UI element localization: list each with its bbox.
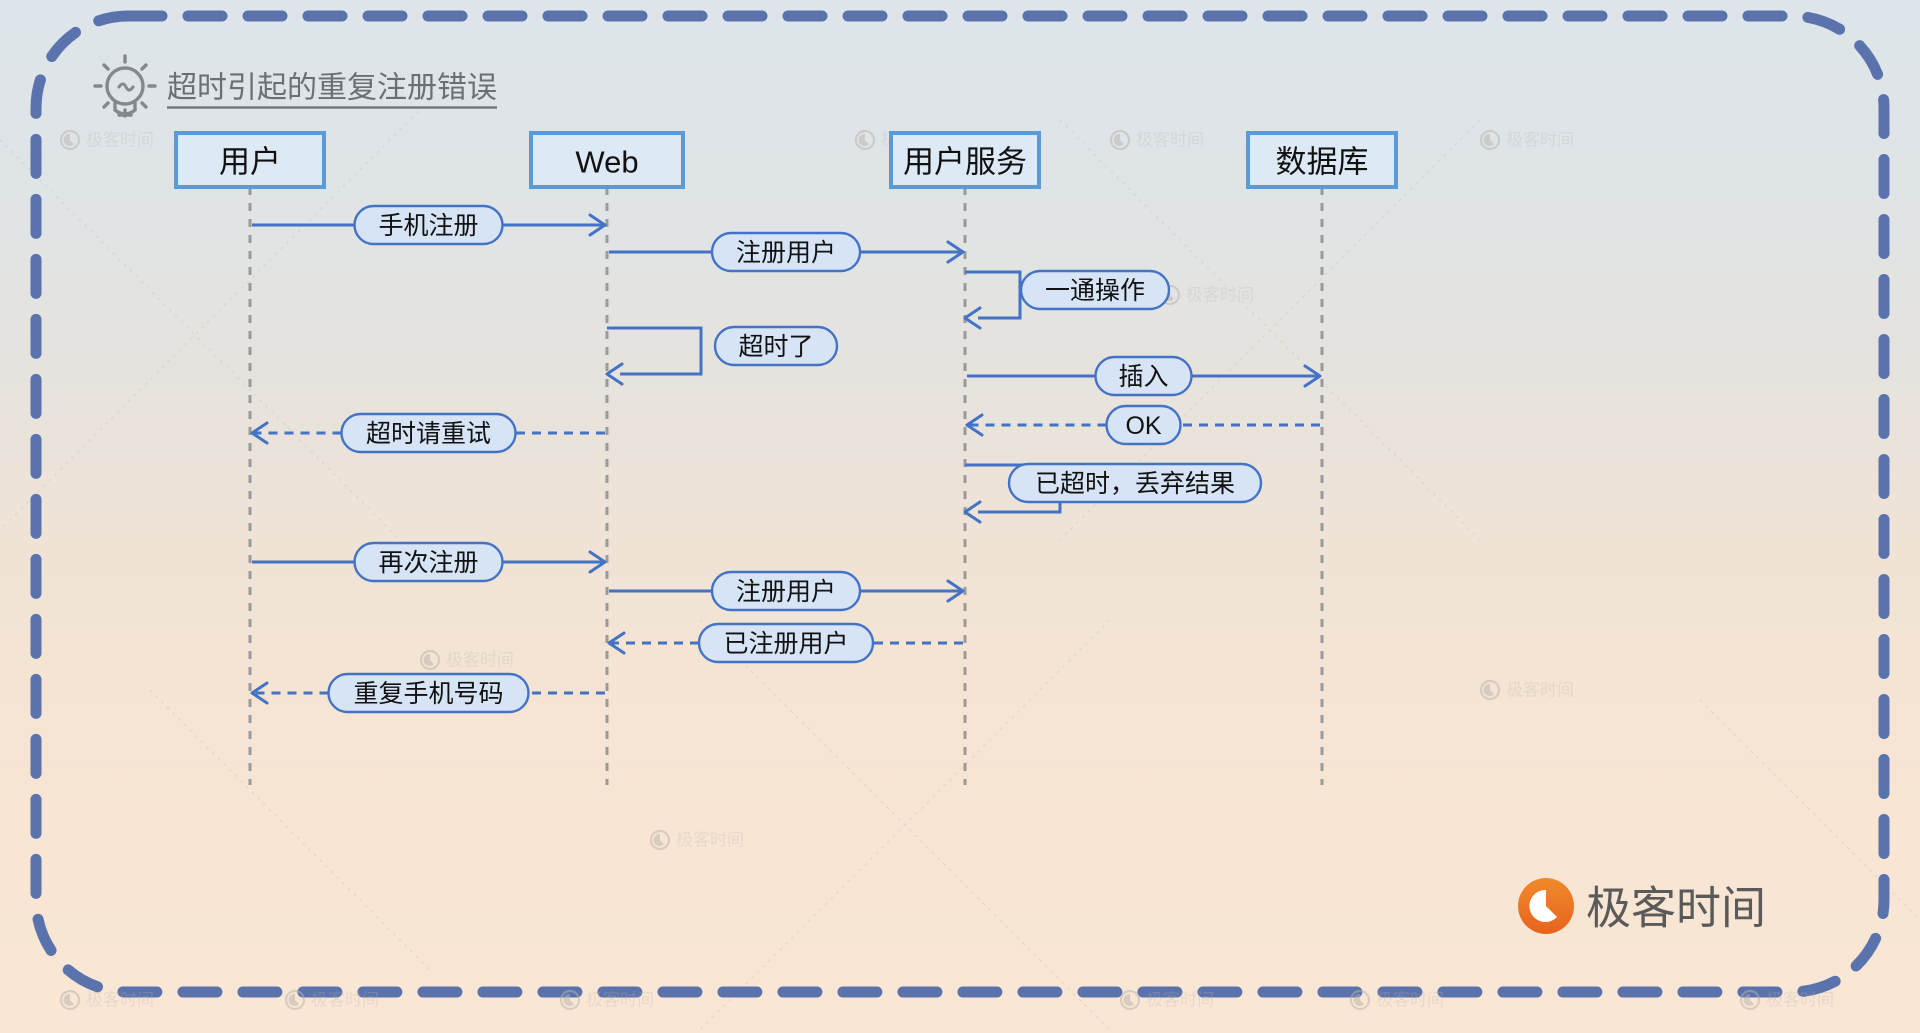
participant-label: 用户 bbox=[219, 145, 281, 180]
message-12: 重复手机号码 bbox=[252, 674, 605, 712]
participant-web[interactable]: Web bbox=[531, 133, 683, 187]
lightbulb-icon bbox=[95, 56, 155, 116]
message-label-text: 超时了 bbox=[738, 333, 813, 361]
participant-db[interactable]: 数据库 bbox=[1248, 133, 1396, 187]
message-8: 已超时，丢弃结果 bbox=[965, 464, 1261, 522]
message-9: 再次注册 bbox=[252, 543, 605, 581]
message-label-text: 插入 bbox=[1118, 363, 1168, 391]
message-label-text: 一通操作 bbox=[1045, 277, 1145, 305]
message-label-text: 重复手机号码 bbox=[353, 680, 503, 708]
brand-logo-text: 极客时间 bbox=[1586, 883, 1766, 934]
arrow-head bbox=[965, 308, 980, 328]
brand-logo: 极客时间 bbox=[1518, 878, 1766, 934]
message-label-text: 超时请重试 bbox=[366, 420, 491, 448]
messages-group: 手机注册注册用户一通操作超时了插入超时请重试OK已超时，丢弃结果再次注册注册用户… bbox=[252, 206, 1320, 712]
diagram-title-group: 超时引起的重复注册错误 bbox=[95, 56, 497, 116]
message-3: 一通操作 bbox=[965, 271, 1169, 328]
message-label-text: 已注册用户 bbox=[723, 630, 848, 658]
message-1: 手机注册 bbox=[252, 206, 605, 244]
arrow-head bbox=[965, 502, 980, 522]
self-loop-path bbox=[607, 328, 701, 374]
message-5: 插入 bbox=[967, 357, 1320, 395]
message-label-text: 已超时，丢弃结果 bbox=[1035, 470, 1235, 498]
message-10: 注册用户 bbox=[609, 572, 963, 610]
diagram-canvas: 极客时间极客时间极客时间极客时间极客时间极客时间极客时间极客时间极客时间极客时间… bbox=[0, 0, 1920, 1033]
participant-service[interactable]: 用户服务 bbox=[891, 133, 1039, 187]
participants-group: 用户Web用户服务数据库 bbox=[176, 133, 1396, 187]
participant-label: 用户服务 bbox=[903, 145, 1027, 180]
message-label-text: 注册用户 bbox=[736, 578, 836, 606]
message-4: 超时了 bbox=[607, 327, 837, 384]
message-6: 超时请重试 bbox=[252, 414, 605, 452]
participant-label: 数据库 bbox=[1276, 145, 1369, 180]
message-2: 注册用户 bbox=[609, 233, 963, 271]
message-label-text: 注册用户 bbox=[736, 239, 836, 267]
message-label-text: OK bbox=[1125, 412, 1161, 440]
message-label-text: 再次注册 bbox=[378, 549, 478, 577]
message-label-text: 手机注册 bbox=[378, 212, 478, 240]
participant-user[interactable]: 用户 bbox=[176, 133, 324, 187]
sequence-diagram: 超时引起的重复注册错误 手机注册注册用户一通操作超时了插入超时请重试OK已超时，… bbox=[0, 0, 1920, 1033]
message-11: 已注册用户 bbox=[609, 624, 963, 662]
message-7: OK bbox=[967, 406, 1320, 444]
page-title: 超时引起的重复注册错误 bbox=[167, 72, 497, 105]
geek-logo-mark-icon bbox=[1518, 878, 1574, 934]
arrow-head bbox=[607, 364, 622, 384]
participant-label: Web bbox=[575, 145, 638, 180]
